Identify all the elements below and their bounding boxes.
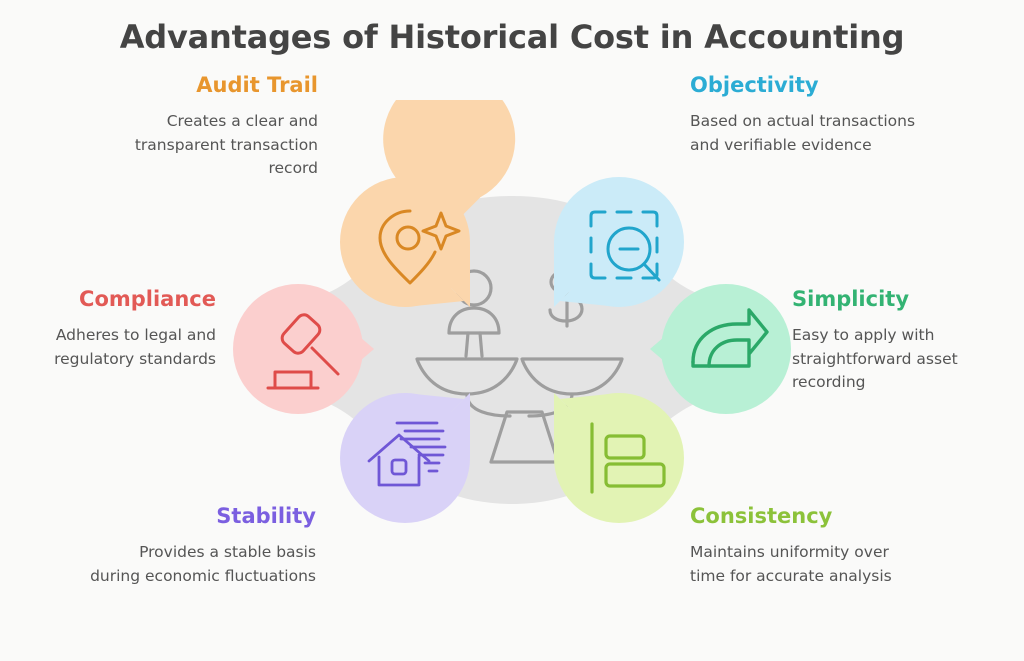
item-heading-simplicity: Simplicity [792,288,1022,311]
item-heading-objectivity: Objectivity [690,74,920,97]
item-text-simplicity: Simplicity Easy to apply with straightfo… [792,288,1022,395]
item-description-simplicity: Easy to apply with straightforward asset… [792,324,1022,395]
item-heading-compliance: Compliance [0,288,216,311]
petal-stability[interactable] [340,393,470,523]
item-description-compliance: Adheres to legal and regulatory standard… [0,324,216,371]
item-text-compliance: Compliance Adheres to legal and regulato… [0,288,216,371]
page-title: Advantages of Historical Cost in Account… [0,18,1024,56]
item-heading-audit-trail: Audit Trail [88,74,318,97]
petal-objectivity[interactable] [554,177,684,307]
petal-diagram [232,100,792,600]
petal-diagram-svg [232,100,792,600]
infographic-root: Advantages of Historical Cost in Account… [0,0,1024,661]
petal-consistency[interactable] [554,393,684,523]
